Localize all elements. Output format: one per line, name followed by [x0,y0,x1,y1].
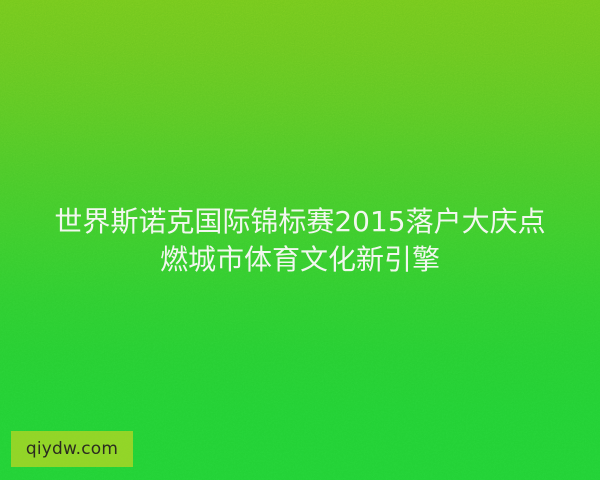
headline-line-1: 世界斯诺克国际锦标赛2015落户大庆点 [0,203,600,241]
headline-line-2: 燃城市体育文化新引擎 [0,241,600,279]
headline-text: 世界斯诺克国际锦标赛2015落户大庆点 燃城市体育文化新引擎 [0,203,600,279]
watermark-label: qiydw.com [26,441,118,458]
banner-image: 世界斯诺克国际锦标赛2015落户大庆点 燃城市体育文化新引擎 qiydw.com [0,0,600,480]
watermark-badge: qiydw.com [11,431,133,467]
